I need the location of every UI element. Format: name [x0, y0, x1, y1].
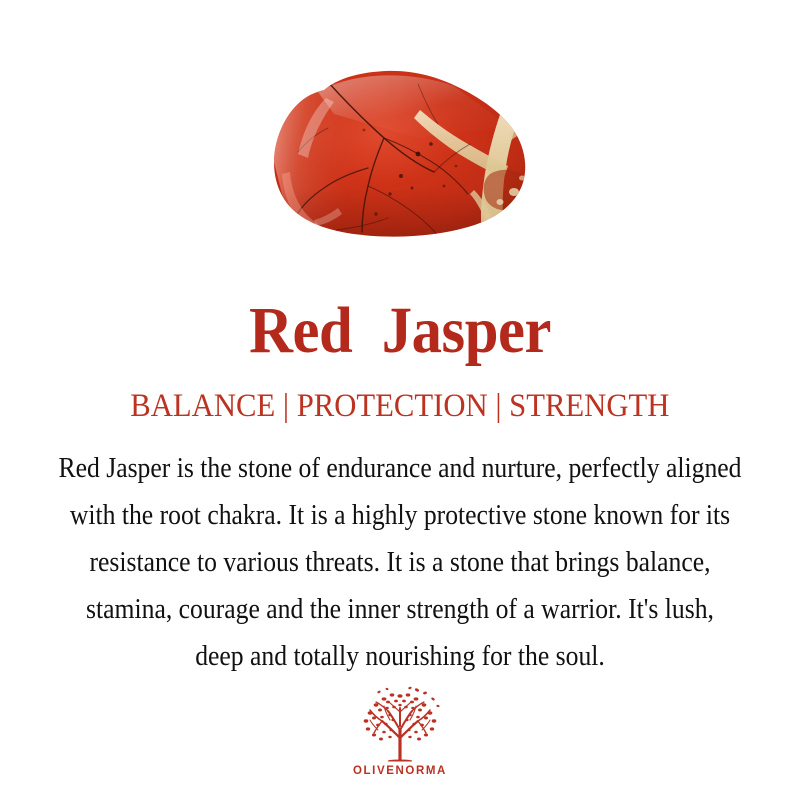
product-image-area: [0, 0, 800, 250]
description-line: with the root chakra. It is a highly pro…: [40, 492, 760, 539]
description-line: stamina, courage and the inner strength …: [40, 586, 760, 633]
red-jasper-info-card: Red Jasper BALANCE | PROTECTION | STRENG…: [0, 0, 800, 800]
brand-wordmark: OLIVENORMA: [353, 765, 447, 777]
description-line: Red Jasper is the stone of endurance and…: [40, 445, 760, 492]
description-paragraph: Red Jasper is the stone of endurance and…: [0, 445, 800, 680]
page-title: Red Jasper: [249, 298, 551, 364]
description-line: resistance to various threats. It is a s…: [40, 539, 760, 586]
tree-of-life-icon: [354, 686, 446, 764]
keywords-line: BALANCE | PROTECTION | STRENGTH: [130, 390, 669, 423]
description-line: deep and totally nourishing for the soul…: [40, 633, 760, 680]
brand-logo: OLIVENORMA: [0, 686, 800, 777]
red-jasper-tumbled-stone-image: [268, 68, 536, 248]
